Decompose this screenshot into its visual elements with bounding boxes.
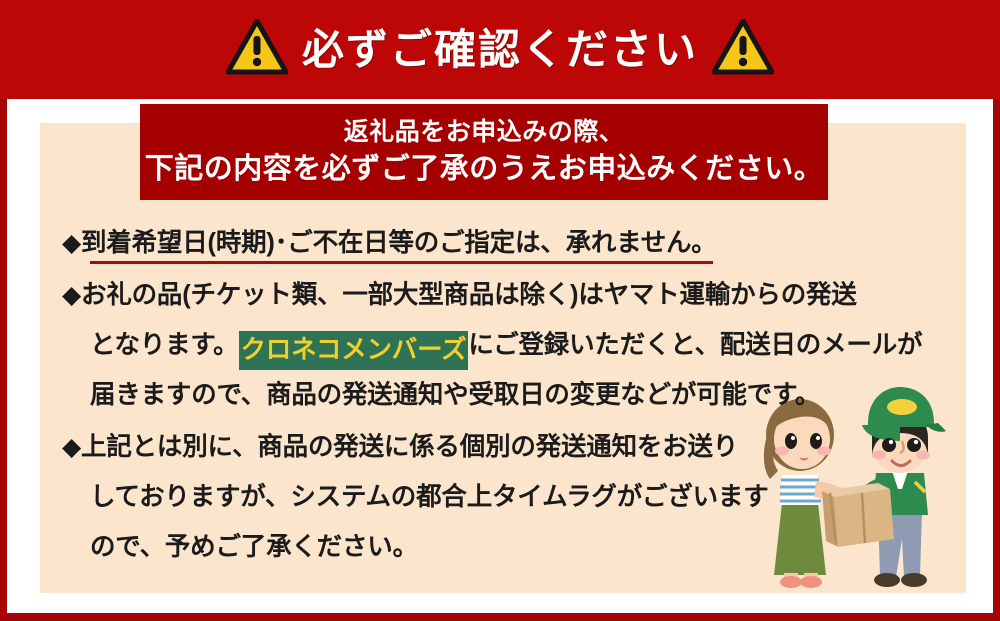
bullet-list: ◆到着希望日(時期)･ご不在日等のご指定は、承れません。 ◆お礼の品(チケット類…	[62, 218, 942, 574]
bullet-3-text-1: 上記とは別に、商品の発送に係る個別の発送通知をお送り	[81, 433, 738, 461]
bullet-2-line-1: ◆お礼の品(チケット類、一部大型商品は除く)はヤマト運輸からの発送	[62, 270, 942, 320]
frame-bottom-border	[0, 613, 1000, 621]
bullet-3-line-1: ◆上記とは別に、商品の発送に係る個別の発送通知をお送り	[62, 422, 942, 472]
warning-triangle-icon	[712, 19, 774, 80]
bullet-2-line-2: となります。クロネコメンバーズにご登録いただくと、配送日のメールが	[62, 320, 942, 370]
bullet-2-text-1: お礼の品(チケット類、一部大型商品は除く)はヤマト運輸からの発送	[81, 281, 857, 309]
bullet-2-text-2: となります。	[90, 331, 239, 359]
bullet-item-3: ◆上記とは別に、商品の発送に係る個別の発送通知をお送り しておりますが、システム…	[62, 422, 942, 572]
diamond-marker: ◆	[62, 229, 81, 257]
diamond-marker: ◆	[62, 281, 81, 309]
notice-line-2: 下記の内容を必ずご了承のうえお申込みください。	[145, 151, 824, 187]
notice-graphic: 必ずご確認ください 返礼品をお申込みの際、 下記の内容を必ずご了承のうえお申込み…	[0, 0, 1000, 621]
bullet-3-line-3: ので、予めご了承ください。	[62, 522, 942, 572]
bullet-3-text-2: しておりますが、システムの都合上タイムラグがございます	[90, 483, 769, 511]
header-band: 必ずご確認ください	[0, 0, 1000, 99]
bullet-2-text-2b: にご登録いただくと、配送日のメールが	[468, 331, 922, 359]
bullet-3-text-3: ので、予めご了承ください。	[90, 533, 418, 561]
bullet-2-text-3: 届きますので、商品の発送通知や受取日の変更などが可能です。	[90, 381, 820, 409]
bullet-1-text: 到着希望日(時期)･ご不在日等のご指定は、承れません。	[81, 229, 717, 257]
bullet-item-1: ◆到着希望日(時期)･ご不在日等のご指定は、承れません。	[62, 218, 942, 268]
notice-banner: 返礼品をお申込みの際、 下記の内容を必ずご了承のうえお申込みください。	[140, 104, 828, 200]
bullet-3-line-2: しておりますが、システムの都合上タイムラグがございます	[62, 472, 942, 522]
warning-triangle-icon	[226, 19, 288, 80]
kuroneko-members-highlight[interactable]: クロネコメンバーズ	[239, 331, 469, 370]
page-title: 必ずご確認ください	[302, 29, 698, 71]
bullet-2-line-3: 届きますので、商品の発送通知や受取日の変更などが可能です。	[62, 370, 942, 420]
notice-line-1: 返礼品をお申込みの際、	[344, 117, 625, 148]
bullet-item-2: ◆お礼の品(チケット類、一部大型商品は除く)はヤマト運輸からの発送 となります。…	[62, 270, 942, 420]
diamond-marker: ◆	[62, 433, 81, 461]
bullet-1-line-1: ◆到着希望日(時期)･ご不在日等のご指定は、承れません。	[62, 218, 942, 268]
